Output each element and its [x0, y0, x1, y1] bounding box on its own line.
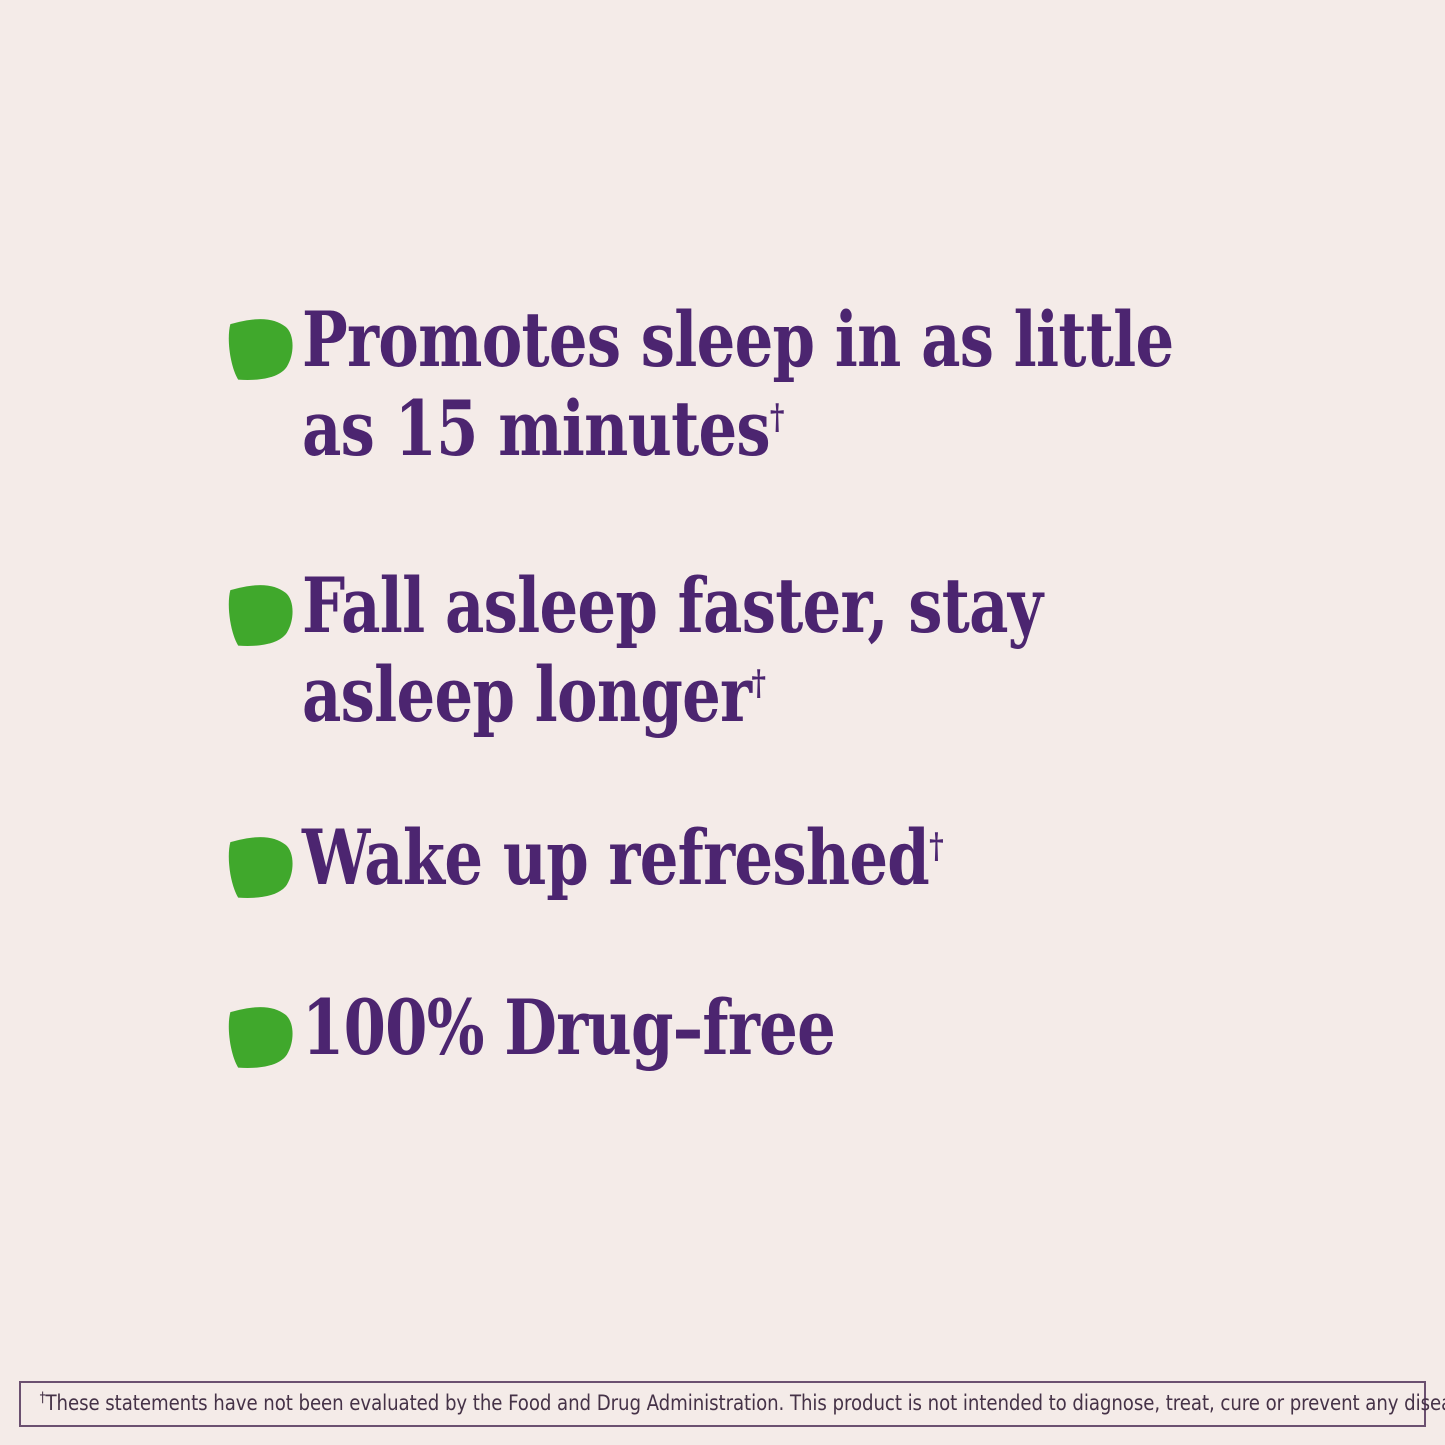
benefit-item-fall-asleep-faster: Fall asleep faster, stay asleep longer†	[228, 562, 1445, 740]
leaf-icon	[228, 814, 302, 900]
benefit-label: Fall asleep faster, stay asleep longer†	[302, 562, 1358, 740]
benefit-label: Wake up refreshed†	[302, 814, 1358, 903]
product-benefits-panel: Promotes sleep in as little as 15 minute…	[0, 0, 1445, 1445]
dagger-marker: †	[770, 397, 785, 438]
benefit-item-promotes-sleep: Promotes sleep in as little as 15 minute…	[228, 296, 1445, 474]
leaf-icon	[228, 562, 302, 648]
dagger-marker: †	[40, 1390, 46, 1406]
benefit-label: Promotes sleep in as little as 15 minute…	[302, 296, 1358, 474]
leaf-icon	[228, 296, 302, 382]
leaf-icon	[228, 984, 302, 1070]
dagger-marker: †	[929, 826, 944, 867]
benefit-item-wake-up-refreshed: Wake up refreshed†	[228, 814, 1445, 903]
fda-disclaimer-text: †These statements have not been evaluate…	[21, 1393, 1442, 1415]
fda-disclaimer-box: †These statements have not been evaluate…	[19, 1381, 1426, 1427]
benefit-item-drug-free: 100% Drug–free	[228, 984, 1445, 1073]
dagger-marker: †	[751, 663, 766, 704]
benefit-label: 100% Drug–free	[302, 984, 1358, 1073]
